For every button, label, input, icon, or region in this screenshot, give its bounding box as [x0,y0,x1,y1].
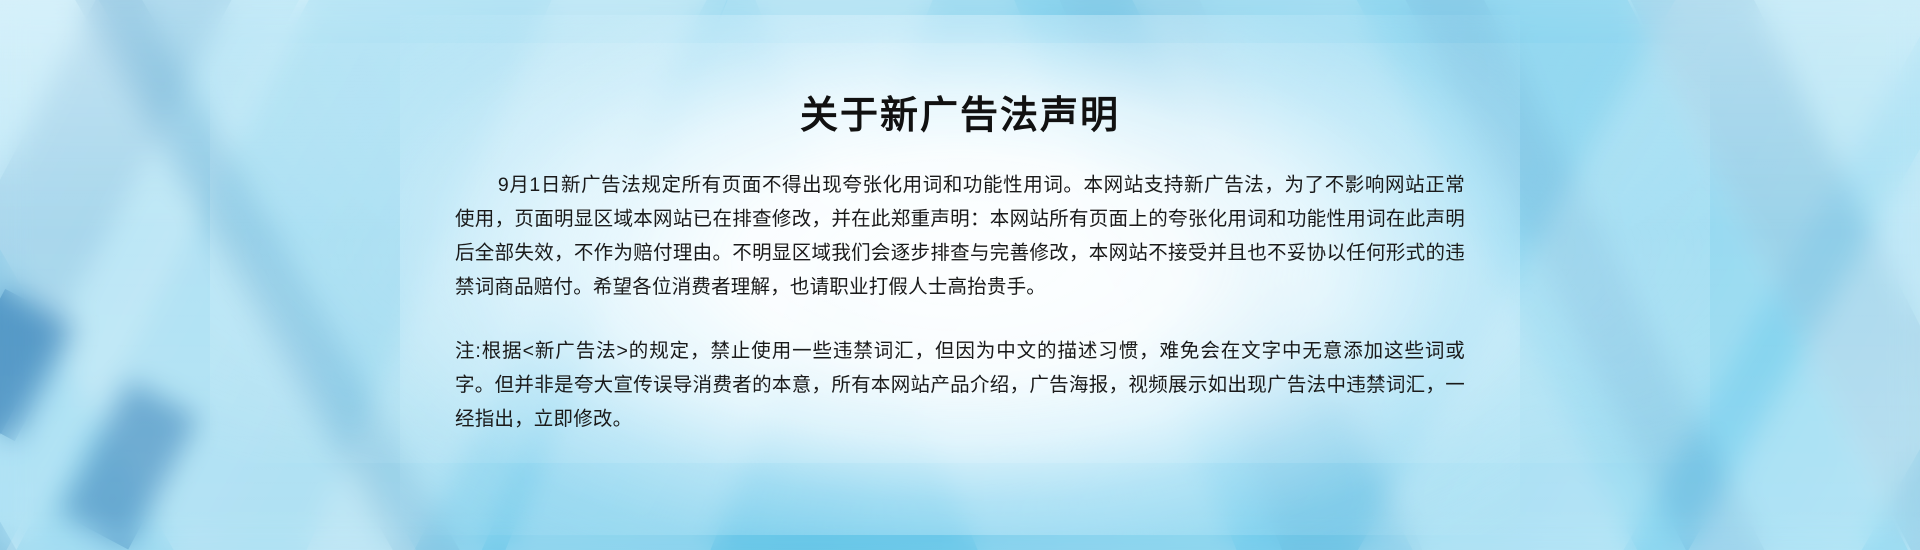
statement-content: 关于新广告法声明 9月1日新广告法规定所有页面不得出现夸张化用词和功能性用词。本… [455,0,1465,550]
statement-paragraph-note: 注:根据<新广告法>的规定，禁止使用一些违禁词汇，但因为中文的描述习惯，难免会在… [455,334,1465,436]
page-title: 关于新广告法声明 [455,96,1465,138]
statement-paragraph-main: 9月1日新广告法规定所有页面不得出现夸张化用词和功能性用词。本网站支持新广告法，… [455,168,1465,304]
advertising-law-statement-banner: 关于新广告法声明 9月1日新广告法规定所有页面不得出现夸张化用词和功能性用词。本… [0,0,1920,550]
